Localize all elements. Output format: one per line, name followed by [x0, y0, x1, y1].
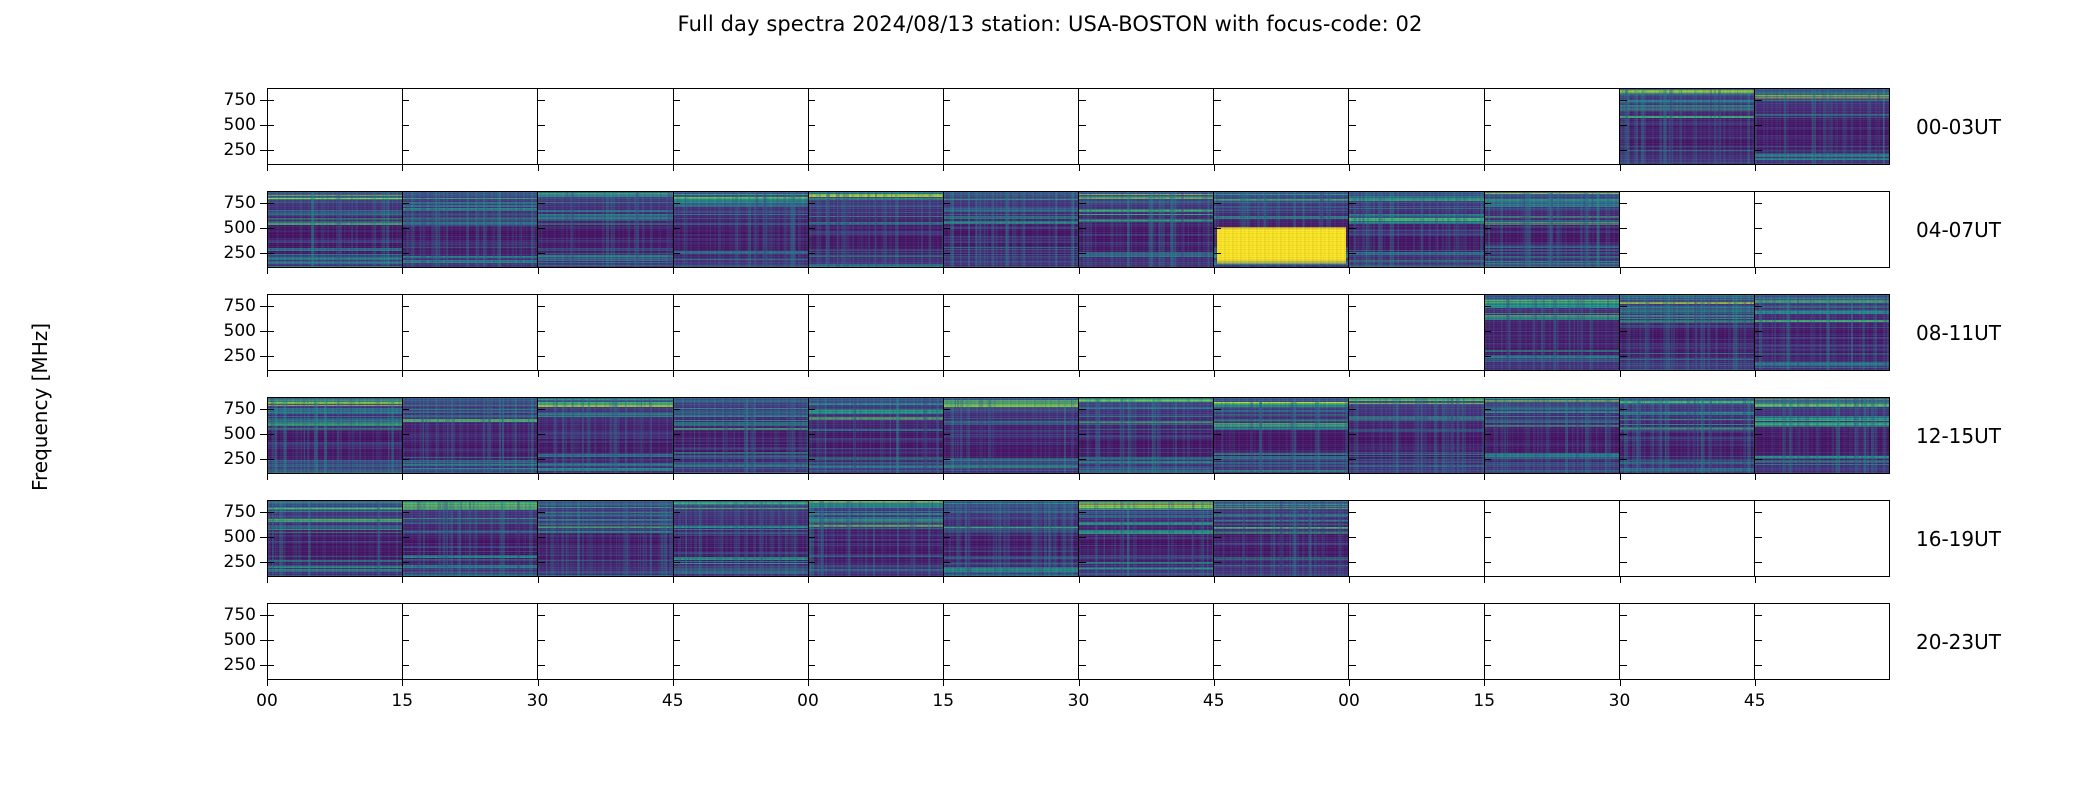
y-axis-tick-inner: [673, 203, 680, 204]
noise-texture: [1485, 192, 1619, 267]
y-axis-tick-inner: [1349, 228, 1356, 229]
spectrogram-panel[interactable]: [1620, 192, 1755, 267]
y-axis-tick-inner: [1214, 253, 1221, 254]
y-axis-tick-inner: [267, 615, 274, 616]
spectrogram-image: [1079, 192, 1213, 267]
spectrogram-image: [403, 501, 537, 576]
y-axis-tick-inner: [538, 615, 545, 616]
x-axis-tick: [538, 577, 539, 583]
x-axis-tick: [267, 577, 268, 583]
y-axis-tick-inner: [1484, 150, 1491, 151]
spectrogram-panel[interactable]: [538, 604, 673, 679]
spectrogram-panel[interactable]: [1079, 295, 1214, 370]
x-axis-tick: [1484, 371, 1485, 377]
y-axis-tick-inner: [1755, 537, 1762, 538]
x-axis-tick: [1214, 577, 1215, 583]
y-axis-tick-inner: [402, 459, 409, 460]
spectrogram-image: [809, 398, 943, 473]
y-axis-tick-inner: [1620, 228, 1627, 229]
spectrogram-row[interactable]: 25050075012-15UT: [267, 397, 1890, 474]
y-axis-tick-inner: [267, 331, 274, 332]
spectrogram-panel[interactable]: [1079, 192, 1214, 267]
x-axis-tick: [1079, 165, 1080, 171]
x-axis-tick: [1214, 371, 1215, 377]
noise-texture: [944, 192, 1078, 267]
y-axis-tick-inner: [808, 253, 815, 254]
y-axis-label-text: Frequency [MHz]: [28, 207, 52, 607]
spectrogram-panel[interactable]: [538, 398, 673, 473]
y-axis-tick-inner: [1755, 331, 1762, 332]
noise-texture: [268, 192, 402, 267]
y-axis-tick-inner: [267, 228, 274, 229]
spectrogram-image: [1214, 398, 1348, 473]
spectrogram-panel[interactable]: [809, 398, 944, 473]
y-axis-tick-inner: [1214, 615, 1221, 616]
y-axis-tick-inner: [943, 434, 950, 435]
spectrogram-panel[interactable]: [403, 604, 538, 679]
spectrogram-panel[interactable]: [1214, 501, 1349, 576]
spectrogram-panel[interactable]: [1485, 604, 1620, 679]
y-axis-tick-inner: [1214, 562, 1221, 563]
spectrogram-panel[interactable]: [944, 501, 1079, 576]
y-axis-tick: [260, 306, 267, 307]
x-axis-tick: [808, 474, 809, 480]
spectrogram-image: [809, 501, 943, 576]
x-axis-tick: [1484, 165, 1485, 171]
spectrogram-panel[interactable]: [809, 295, 944, 370]
y-axis-tick-inner: [1755, 434, 1762, 435]
y-axis-tick-inner: [1214, 409, 1221, 410]
spectrogram-image: [674, 192, 808, 267]
spectrogram-panel[interactable]: [1214, 604, 1349, 679]
x-axis-tick: [1214, 165, 1215, 171]
x-axis-tick: [402, 680, 403, 686]
x-axis-tick: [1214, 680, 1215, 686]
y-axis-tick-inner: [538, 306, 545, 307]
x-axis-tick-label: 15: [932, 691, 954, 711]
y-axis-tick-inner: [402, 125, 409, 126]
y-axis-tick-label: 750: [224, 399, 256, 419]
x-axis-tick-label: 30: [1609, 691, 1631, 711]
y-axis-tick-inner: [943, 150, 950, 151]
y-axis-tick-inner: [1484, 640, 1491, 641]
y-axis-tick-inner: [402, 434, 409, 435]
y-axis-tick-inner: [1755, 512, 1762, 513]
y-axis-tick-inner: [538, 640, 545, 641]
x-axis-tick: [1620, 165, 1621, 171]
y-axis-tick-inner: [1620, 459, 1627, 460]
x-axis-tick: [1349, 165, 1350, 171]
y-axis-tick-inner: [1079, 459, 1086, 460]
noise-texture: [268, 398, 402, 473]
y-axis-tick-inner: [402, 512, 409, 513]
y-axis-tick-inner: [1079, 150, 1086, 151]
spectrogram-panel[interactable]: [538, 89, 673, 164]
spectrogram-image: [1349, 398, 1483, 473]
y-axis-tick-inner: [538, 434, 545, 435]
spectrogram-panel[interactable]: [403, 192, 538, 267]
spectrogram-panel[interactable]: [1349, 398, 1484, 473]
noise-texture: [809, 398, 943, 473]
spectrogram-panel[interactable]: [1214, 398, 1349, 473]
spectrogram-panel[interactable]: [1349, 501, 1484, 576]
x-axis-tick-label: 45: [1203, 691, 1225, 711]
x-axis-tick: [267, 371, 268, 377]
x-axis-tick: [673, 680, 674, 686]
spectrogram-image: [538, 398, 672, 473]
spectrogram-panel[interactable]: [1755, 89, 1889, 164]
spectrogram-panel[interactable]: [1620, 398, 1755, 473]
spectrogram-panel[interactable]: [538, 501, 673, 576]
spectrogram-panel[interactable]: [403, 501, 538, 576]
spectrogram-panel[interactable]: [674, 604, 809, 679]
y-axis-tick-inner: [808, 306, 815, 307]
spectrogram-panel[interactable]: [674, 398, 809, 473]
y-axis-tick-inner: [1349, 640, 1356, 641]
row-time-label: 04-07UT: [1916, 218, 2001, 242]
y-axis-tick-inner: [1620, 434, 1627, 435]
spectrogram-panel[interactable]: [1079, 398, 1214, 473]
y-axis-tick-inner: [943, 203, 950, 204]
spectrogram-panel[interactable]: [268, 501, 403, 576]
y-axis-tick-inner: [1620, 356, 1627, 357]
noise-texture: [1755, 398, 1889, 473]
y-axis-tick-inner: [267, 203, 274, 204]
spectrogram-row[interactable]: 25050075000153045001530450015304520-23UT: [267, 603, 1890, 680]
y-axis-tick-inner: [1484, 125, 1491, 126]
x-axis-tick: [402, 371, 403, 377]
y-axis-tick-label: 250: [224, 552, 256, 572]
y-axis-tick-inner: [402, 203, 409, 204]
y-axis-tick-inner: [402, 306, 409, 307]
y-axis-tick-inner: [1079, 665, 1086, 666]
y-axis-tick-inner: [267, 459, 274, 460]
y-axis-tick-inner: [1755, 203, 1762, 204]
spectrogram-panel[interactable]: [1755, 398, 1889, 473]
spectrogram-image: [403, 398, 537, 473]
y-axis-tick-inner: [402, 640, 409, 641]
y-axis-tick-label: 500: [224, 115, 256, 135]
x-axis-tick: [1620, 371, 1621, 377]
y-axis-tick-inner: [1484, 331, 1491, 332]
spectrogram-panel[interactable]: [1485, 295, 1620, 370]
x-axis-tick: [808, 268, 809, 274]
row-time-label: 12-15UT: [1916, 424, 2001, 448]
y-axis-tick-inner: [1755, 125, 1762, 126]
spectrogram-row[interactable]: 25050075016-19UT: [267, 500, 1890, 577]
spectrogram-row[interactable]: 25050075004-07UT: [267, 191, 1890, 268]
y-axis-tick-inner: [1755, 615, 1762, 616]
x-axis-tick: [1755, 474, 1756, 480]
spectrogram-panel[interactable]: [1755, 192, 1889, 267]
spectrogram-panel[interactable]: [1485, 398, 1620, 473]
x-axis-tick: [808, 680, 809, 686]
spectrogram-image: [1214, 501, 1348, 576]
spectrogram-image: [268, 192, 402, 267]
y-axis-tick-inner: [538, 512, 545, 513]
y-axis-tick-inner: [1620, 537, 1627, 538]
spectrogram-panel[interactable]: [674, 89, 809, 164]
noise-texture: [1485, 295, 1619, 370]
noise-texture: [1079, 501, 1213, 576]
y-axis-tick-inner: [267, 434, 274, 435]
spectrogram-panel[interactable]: [674, 192, 809, 267]
x-axis-tick-label: 15: [1473, 691, 1495, 711]
y-axis-tick-inner: [1755, 665, 1762, 666]
y-axis-tick-inner: [808, 459, 815, 460]
spectrogram-panel[interactable]: [268, 192, 403, 267]
spectrogram-panel[interactable]: [1214, 192, 1349, 267]
y-axis-tick-inner: [1620, 331, 1627, 332]
y-axis-tick-inner: [1755, 356, 1762, 357]
y-axis-tick-inner: [267, 512, 274, 513]
spectrogram-image: [944, 501, 1078, 576]
spectrogram-panel[interactable]: [674, 501, 809, 576]
y-axis-tick-label: 500: [224, 321, 256, 341]
y-axis-tick: [260, 228, 267, 229]
x-axis-tick: [1214, 474, 1215, 480]
y-axis-tick-inner: [1079, 615, 1086, 616]
spectrogram-panel[interactable]: [944, 295, 1079, 370]
noise-texture: [944, 398, 1078, 473]
y-axis-tick-inner: [267, 306, 274, 307]
y-axis-tick-inner: [402, 356, 409, 357]
spectrogram-image: [1485, 295, 1619, 370]
x-axis-tick: [673, 474, 674, 480]
spectrogram-panel[interactable]: [403, 89, 538, 164]
spectrogram-image: [674, 398, 808, 473]
spectrogram-image: [1079, 501, 1213, 576]
y-axis-tick-inner: [943, 100, 950, 101]
y-axis-tick-label: 750: [224, 605, 256, 625]
y-axis-tick-inner: [1484, 100, 1491, 101]
y-axis-tick-inner: [943, 665, 950, 666]
noise-texture: [538, 398, 672, 473]
spectrogram-panel[interactable]: [1485, 192, 1620, 267]
y-axis-tick-inner: [1620, 409, 1627, 410]
y-axis-tick-inner: [1484, 434, 1491, 435]
y-axis-tick-inner: [1079, 203, 1086, 204]
x-axis-tick-label: 30: [1068, 691, 1090, 711]
noise-texture: [403, 192, 537, 267]
y-axis-tick-inner: [1214, 434, 1221, 435]
y-axis-tick-inner: [1755, 306, 1762, 307]
y-axis-tick-inner: [1214, 203, 1221, 204]
y-axis-tick-inner: [538, 203, 545, 204]
x-axis-tick: [1079, 371, 1080, 377]
spectrogram-panel[interactable]: [268, 89, 403, 164]
y-axis-tick-label: 500: [224, 527, 256, 547]
y-axis-tick-inner: [267, 409, 274, 410]
y-axis-tick-inner: [1755, 640, 1762, 641]
y-axis-tick-inner: [808, 356, 815, 357]
y-axis-tick-inner: [1484, 665, 1491, 666]
spectrogram-row[interactable]: 25050075000-03UT: [267, 88, 1890, 165]
y-axis-tick-inner: [1214, 537, 1221, 538]
y-axis-tick-inner: [673, 537, 680, 538]
y-axis-tick: [260, 100, 267, 101]
spectrogram-image: [1620, 295, 1754, 370]
spectrogram-panel[interactable]: [403, 295, 538, 370]
spectrogram-panel[interactable]: [1349, 604, 1484, 679]
x-axis-tick-label: 45: [662, 691, 684, 711]
y-axis-tick-inner: [1214, 640, 1221, 641]
spectrogram-panel[interactable]: [538, 192, 673, 267]
spectrogram-image: [1755, 398, 1889, 473]
x-axis-tick: [1079, 268, 1080, 274]
spectrogram-row[interactable]: 25050075008-11UT: [267, 294, 1890, 371]
spectrogram-panel[interactable]: [809, 501, 944, 576]
noise-texture: [1079, 192, 1213, 267]
spectrogram-panel[interactable]: [809, 89, 944, 164]
y-axis-tick-inner: [538, 253, 545, 254]
y-axis-tick-inner: [943, 562, 950, 563]
spectrogram-panel[interactable]: [944, 192, 1079, 267]
spectrogram-panel[interactable]: [538, 295, 673, 370]
spectrogram-panel[interactable]: [1349, 89, 1484, 164]
y-axis-tick-inner: [267, 537, 274, 538]
noise-texture: [1349, 398, 1483, 473]
spectrogram-panel[interactable]: [1214, 89, 1349, 164]
y-axis-tick: [260, 253, 267, 254]
y-axis-tick-inner: [808, 640, 815, 641]
spectrogram-panel[interactable]: [1755, 295, 1889, 370]
x-axis-tick: [673, 165, 674, 171]
x-axis-tick: [1620, 268, 1621, 274]
x-axis-tick: [402, 577, 403, 583]
x-axis-tick: [1484, 268, 1485, 274]
spectrogram-panel[interactable]: [944, 89, 1079, 164]
y-axis-tick-inner: [402, 615, 409, 616]
noise-texture: [809, 501, 943, 576]
spectrogram-panel[interactable]: [1214, 295, 1349, 370]
x-axis-tick-label: 30: [527, 691, 549, 711]
spectrogram-panel[interactable]: [1620, 501, 1755, 576]
spectrogram-image: [944, 192, 1078, 267]
spectrogram-panel[interactable]: [1755, 604, 1889, 679]
y-axis-tick-inner: [1620, 253, 1627, 254]
spectrogram-panel[interactable]: [268, 295, 403, 370]
spectrogram-panel[interactable]: [1485, 89, 1620, 164]
spectrogram-panel[interactable]: [1349, 295, 1484, 370]
spectrogram-panel[interactable]: [1079, 604, 1214, 679]
spectrogram-panel[interactable]: [268, 604, 403, 679]
y-axis-tick-inner: [538, 665, 545, 666]
y-axis-tick-inner: [673, 150, 680, 151]
x-axis-tick: [538, 680, 539, 686]
y-axis-tick-inner: [1214, 665, 1221, 666]
y-axis-tick: [260, 459, 267, 460]
y-axis-tick-inner: [943, 253, 950, 254]
y-axis-tick-inner: [1620, 640, 1627, 641]
spectrogram-image: [1485, 398, 1619, 473]
spectrogram-image: [268, 398, 402, 473]
spectrogram-panel[interactable]: [1755, 501, 1889, 576]
y-axis-tick-inner: [1484, 306, 1491, 307]
y-axis-tick-inner: [673, 640, 680, 641]
spectrogram-panel[interactable]: [1620, 89, 1755, 164]
x-axis-tick: [943, 474, 944, 480]
y-axis-tick-inner: [943, 512, 950, 513]
y-axis-tick-inner: [1349, 306, 1356, 307]
y-axis-tick-inner: [1214, 150, 1221, 151]
x-axis-tick-label: 15: [391, 691, 413, 711]
spectrogram-panel[interactable]: [1620, 295, 1755, 370]
y-axis-tick-inner: [673, 459, 680, 460]
spectrogram-panel[interactable]: [944, 398, 1079, 473]
y-axis-tick: [260, 665, 267, 666]
y-axis-tick-inner: [1079, 228, 1086, 229]
y-axis-tick-inner: [267, 150, 274, 151]
spectrogram-panel[interactable]: [809, 604, 944, 679]
spectrogram-panel[interactable]: [268, 398, 403, 473]
x-axis-tick: [538, 165, 539, 171]
y-axis-tick-inner: [402, 253, 409, 254]
spectrogram-panel[interactable]: [1079, 89, 1214, 164]
noise-texture: [268, 501, 402, 576]
y-axis-tick-inner: [673, 125, 680, 126]
spectrogram-panel[interactable]: [1620, 604, 1755, 679]
row-time-label: 08-11UT: [1916, 321, 2001, 345]
x-axis-tick: [808, 577, 809, 583]
y-axis-tick-inner: [1079, 306, 1086, 307]
spectrogram-panel[interactable]: [1079, 501, 1214, 576]
y-axis-tick-inner: [267, 562, 274, 563]
y-axis-tick-inner: [1349, 537, 1356, 538]
y-axis-tick-inner: [1755, 459, 1762, 460]
spectrogram-panel[interactable]: [1349, 192, 1484, 267]
y-axis-tick-inner: [1484, 562, 1491, 563]
y-axis-tick-inner: [673, 100, 680, 101]
noise-texture: [1214, 501, 1348, 576]
y-axis-tick: [260, 409, 267, 410]
spectrogram-panel[interactable]: [944, 604, 1079, 679]
y-axis-tick: [260, 537, 267, 538]
x-axis-tick: [943, 577, 944, 583]
y-axis-tick-inner: [402, 409, 409, 410]
y-axis-tick-inner: [1214, 306, 1221, 307]
y-axis-tick-inner: [808, 150, 815, 151]
y-axis-tick-inner: [1620, 100, 1627, 101]
y-axis-tick-inner: [1620, 306, 1627, 307]
y-axis-tick-inner: [402, 228, 409, 229]
y-axis-tick-label: 250: [224, 346, 256, 366]
x-axis-tick: [1349, 680, 1350, 686]
x-axis-tick: [1079, 577, 1080, 583]
y-axis-tick-inner: [673, 615, 680, 616]
y-axis-tick-inner: [943, 331, 950, 332]
spectrogram-panel[interactable]: [809, 192, 944, 267]
y-axis-tick-inner: [1620, 125, 1627, 126]
spectrogram-panel[interactable]: [1485, 501, 1620, 576]
y-axis-tick: [260, 640, 267, 641]
x-axis-tick: [1079, 474, 1080, 480]
y-axis-tick-inner: [1755, 562, 1762, 563]
x-axis-tick: [1484, 577, 1485, 583]
y-axis-tick-inner: [943, 228, 950, 229]
y-axis-tick-inner: [538, 562, 545, 563]
y-axis-tick-inner: [808, 537, 815, 538]
y-axis-tick-inner: [808, 100, 815, 101]
spectrogram-panel[interactable]: [403, 398, 538, 473]
y-axis-tick-inner: [673, 665, 680, 666]
y-axis-tick-inner: [1349, 356, 1356, 357]
y-axis-tick: [260, 150, 267, 151]
y-axis-label: Frequency [MHz]: [0, 0, 40, 800]
y-axis-tick-label: 250: [224, 449, 256, 469]
spectrogram-panel[interactable]: [674, 295, 809, 370]
y-axis-tick-inner: [267, 356, 274, 357]
